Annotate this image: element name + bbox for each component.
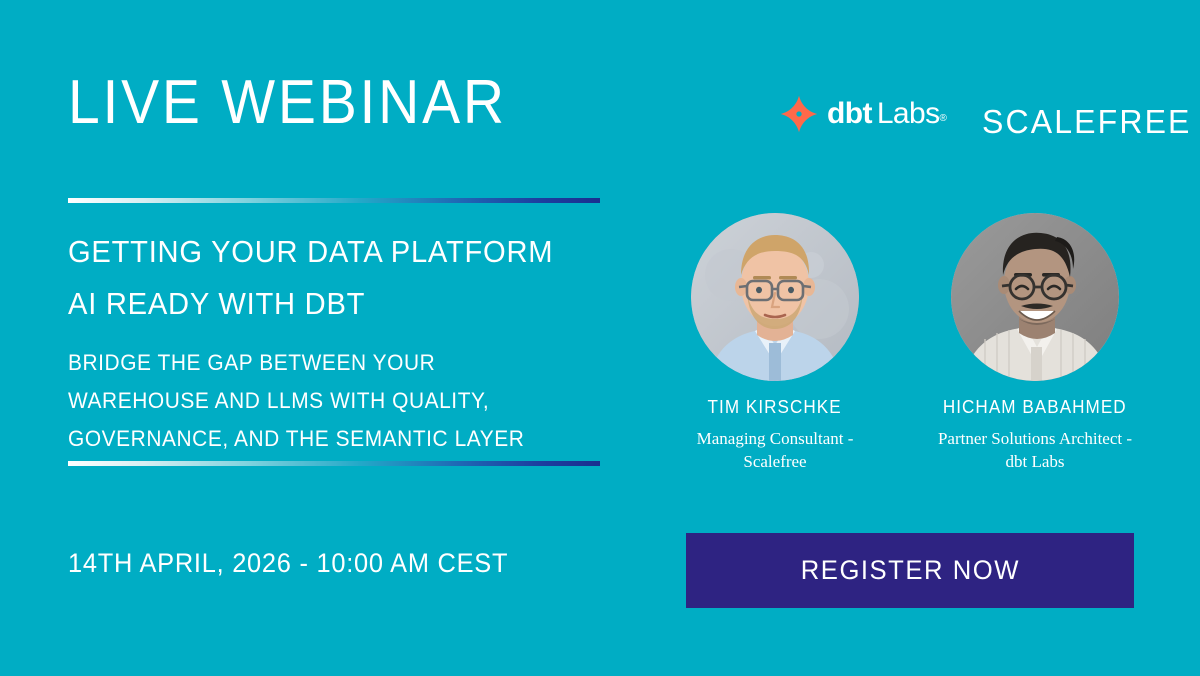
subtitle: BRIDGE THE GAP BETWEEN YOUR WAREHOUSE AN… bbox=[68, 344, 524, 458]
headline: GETTING YOUR DATA PLATFORM AI READY WITH… bbox=[68, 226, 553, 330]
subtitle-line-3: GOVERNANCE, AND THE SEMANTIC LAYER bbox=[68, 420, 524, 458]
event-datetime: 14TH APRIL, 2026 - 10:00 AM CEST bbox=[68, 548, 508, 579]
logo-bar: dbtLabs® SCALEFREE bbox=[780, 85, 1200, 143]
headline-line-1: GETTING YOUR DATA PLATFORM bbox=[68, 226, 553, 278]
speaker-list: TIM KIRSCHKE Managing Consultant - Scale… bbox=[660, 213, 1150, 473]
register-now-button[interactable]: REGISTER NOW bbox=[686, 533, 1134, 608]
avatar bbox=[951, 213, 1119, 381]
dbt-labs-wordmark: dbtLabs® bbox=[827, 99, 946, 129]
subtitle-line-2: WAREHOUSE AND LLMS WITH QUALITY, bbox=[68, 382, 524, 420]
dbt-word-regular: Labs bbox=[877, 97, 940, 130]
page-title: LIVE WEBINAR bbox=[68, 72, 507, 134]
scalefree-wordmark: SCALEFREE bbox=[982, 105, 1192, 138]
webinar-poster: LIVE WEBINAR GETTING YOUR DATA PLATFORM … bbox=[0, 0, 1200, 676]
left-content-column: LIVE WEBINAR GETTING YOUR DATA PLATFORM … bbox=[68, 0, 668, 676]
register-now-label: REGISTER NOW bbox=[800, 555, 1019, 586]
speaker-card: TIM KIRSCHKE Managing Consultant - Scale… bbox=[660, 213, 890, 473]
speaker-role: Partner Solutions Architect - dbt Labs bbox=[928, 427, 1143, 473]
dbt-trademark: ® bbox=[940, 113, 947, 124]
divider-bottom bbox=[68, 461, 600, 466]
speaker-name: TIM KIRSCHKE bbox=[708, 397, 842, 418]
scalefree-logo: SCALEFREE bbox=[982, 85, 1200, 143]
divider-top bbox=[68, 198, 600, 203]
dbt-word-bold: dbt bbox=[827, 97, 872, 130]
headline-line-2: AI READY WITH DBT bbox=[68, 278, 553, 330]
dbt-x-icon bbox=[780, 95, 818, 133]
subtitle-line-1: BRIDGE THE GAP BETWEEN YOUR bbox=[68, 344, 524, 382]
speaker-role: Managing Consultant - Scalefree bbox=[668, 427, 883, 473]
avatar bbox=[691, 213, 859, 381]
dbt-labs-logo: dbtLabs® bbox=[780, 94, 946, 134]
speaker-card: HICHAM BABAHMED Partner Solutions Archit… bbox=[920, 213, 1150, 473]
speaker-name: HICHAM BABAHMED bbox=[943, 397, 1127, 418]
